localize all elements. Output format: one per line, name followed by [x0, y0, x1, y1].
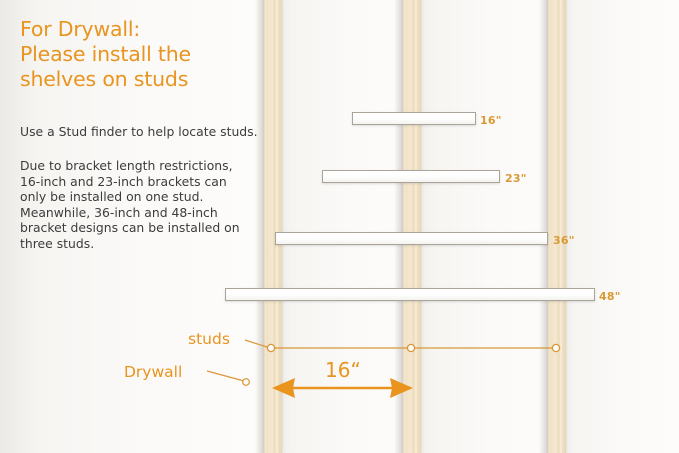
drywall-instruction-graphic: 16" 23" 36" 48" studs Drywall 16“ For Dr… — [0, 0, 679, 453]
shelf-bar-16 — [352, 112, 476, 125]
shelf-label-23: 23" — [505, 172, 527, 185]
panel-edge-shadow-2 — [394, 0, 403, 453]
drywall-annotation-label: Drywall — [124, 363, 182, 381]
studs-annotation-label: studs — [188, 330, 230, 348]
drywall-panel-2 — [273, 0, 412, 453]
stud-center — [403, 0, 421, 453]
drywall-panel-3 — [412, 0, 557, 453]
drywall-panel-4 — [557, 0, 679, 453]
intro-text: Use a Stud finder to help locate studs. — [20, 124, 275, 140]
stud-right — [548, 0, 566, 453]
page-title: For Drywall: Please install the shelves … — [20, 17, 270, 92]
panel-edge-shadow-3 — [539, 0, 548, 453]
dimension-annotation-label: 16“ — [325, 358, 361, 382]
shelf-bar-36 — [275, 232, 548, 245]
shelf-label-36: 36" — [553, 234, 575, 247]
shelf-label-16: 16" — [480, 114, 502, 127]
body-text: Due to bracket length restrictions, 16-i… — [20, 158, 282, 252]
shelf-bar-23 — [322, 170, 500, 183]
shelf-label-48: 48" — [599, 290, 621, 303]
shelf-bar-48 — [225, 288, 595, 301]
